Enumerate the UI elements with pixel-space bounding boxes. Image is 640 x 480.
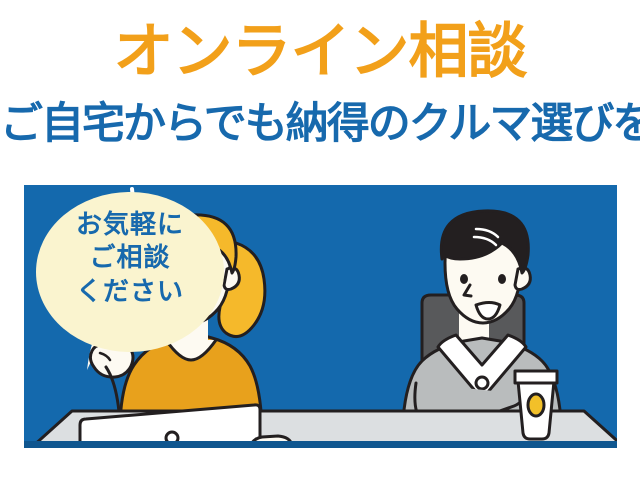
shirt-button: [476, 377, 488, 389]
page-subtitle: ご自宅からでも納得のクルマ選びを: [0, 100, 640, 149]
badge-text: お気軽に ご相談 ください: [36, 209, 224, 309]
man-eye-left: [460, 274, 468, 284]
badge-line-3: ください: [36, 276, 224, 309]
coffee-cup-lid: [515, 371, 557, 383]
headline-area: オンライン相談 ご自宅からでも納得のクルマ選びを: [0, 0, 640, 175]
badge-line-2: ご相談: [36, 242, 224, 275]
man-eye-right: [498, 274, 506, 284]
panel-bottom-strip: [24, 441, 617, 448]
badge-line-1: お気軽に: [36, 209, 224, 242]
illustration-panel: お気軽に ご相談 ください: [24, 185, 617, 447]
coffee-cup-logo: [528, 394, 544, 416]
page-title: オンライン相談: [0, 22, 640, 82]
online-consultation-banner: オンライン相談 ご自宅からでも納得のクルマ選びを: [0, 0, 640, 480]
